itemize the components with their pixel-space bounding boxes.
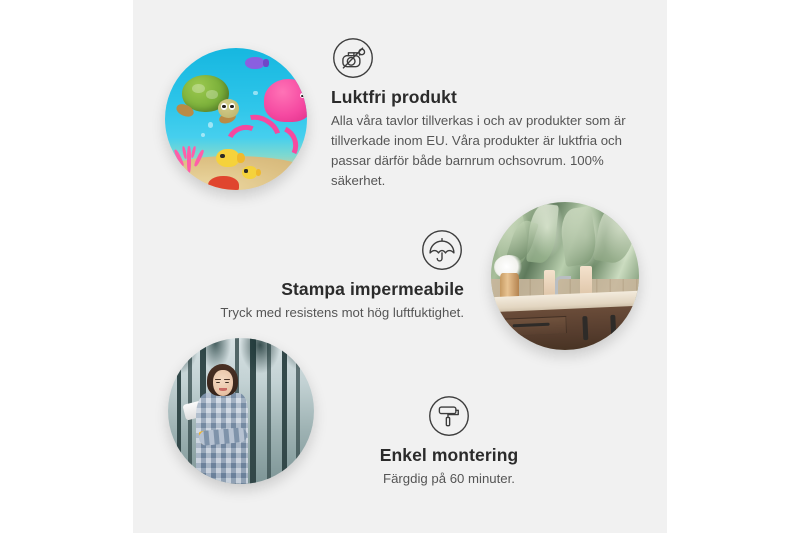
feature-body: Tryck med resistens mot hög luftfuktighe… xyxy=(218,303,464,323)
woman-face xyxy=(213,370,233,396)
cabinet-handle xyxy=(610,314,616,339)
feature-odourless: Luktfri produkt Alla våra tavlor tillver… xyxy=(331,36,631,191)
feature-easy-mounting: Enkel montering Färgdig på 60 minuter. xyxy=(329,394,569,489)
bubble-icon xyxy=(208,122,214,128)
octopus-icon xyxy=(264,79,307,122)
bubble-icon xyxy=(253,91,258,96)
turtle-eye xyxy=(229,103,236,110)
underwater-scene-art xyxy=(165,48,307,190)
wooden-vanity xyxy=(491,305,639,350)
page-root: Luktfri produkt Alla våra tavlor tillver… xyxy=(0,0,800,533)
turtle-eye xyxy=(221,103,228,110)
forest-canopy xyxy=(168,338,314,391)
feature-image-woman-with-paint-roller xyxy=(168,338,314,484)
bathroom-scene-art xyxy=(491,202,639,350)
butterfly-fish-icon xyxy=(216,149,239,167)
umbrella-icon xyxy=(420,228,464,272)
eyebrow xyxy=(215,379,220,381)
coral-icon xyxy=(171,139,211,173)
butterfly-fish-icon xyxy=(242,166,258,179)
perfume-bottle-crossed-out-icon xyxy=(331,36,375,80)
forest-scene-art xyxy=(168,338,314,484)
feature-waterproof-print: Stampa impermeabile Tryck med resistens … xyxy=(218,228,464,323)
eye xyxy=(225,382,229,384)
feature-body: Färgdig på 60 minuter. xyxy=(329,469,569,489)
smile xyxy=(219,388,227,391)
eye xyxy=(216,382,220,384)
bubble-icon xyxy=(201,133,205,137)
purple-fish-icon xyxy=(245,57,265,70)
paint-roller-icon xyxy=(427,394,471,438)
leaf-shape xyxy=(558,206,598,267)
feature-body: Alla våra tavlor tillverkas i och av pro… xyxy=(331,111,631,191)
eyebrow xyxy=(224,379,229,381)
feature-title: Luktfri produkt xyxy=(331,87,631,108)
content-panel: Luktfri produkt Alla våra tavlor tillver… xyxy=(133,0,667,533)
turtle-head xyxy=(218,99,239,117)
cabinet-handle xyxy=(583,315,589,340)
leaf-shape xyxy=(593,202,638,265)
feature-image-underwater-kids-mural xyxy=(165,48,307,190)
feature-title: Enkel montering xyxy=(329,445,569,466)
feature-image-bathroom-botanical-wallpaper xyxy=(491,202,639,350)
crab-icon xyxy=(208,176,239,190)
feature-title: Stampa impermeabile xyxy=(218,279,464,300)
octopus-eye xyxy=(300,93,305,98)
